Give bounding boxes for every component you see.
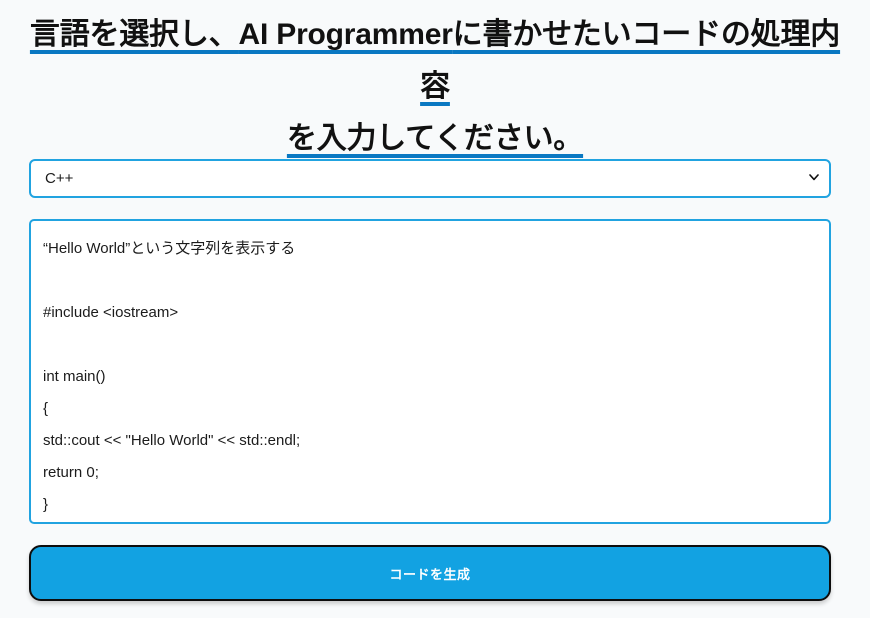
language-select[interactable]: C++ <box>29 159 831 198</box>
page-root: 言語を選択し、AI Programmerに書かせたいコードの処理内容 を入力して… <box>0 0 870 618</box>
page-title-line2: を入力してください。 <box>287 122 583 155</box>
page-title-line1: 言語を選択し、AI Programmerに書かせたいコードの処理内容 <box>30 18 840 103</box>
page-title-line1-part3: に書かせたいコードの処理内容 <box>420 18 840 103</box>
page-title: 言語を選択し、AI Programmerに書かせたいコードの処理内容 を入力して… <box>29 0 841 165</box>
page-title-line1-part2: AI Programmer <box>239 18 453 51</box>
page-title-line1-part1: 言語を選択し、 <box>30 18 239 51</box>
prompt-textarea[interactable] <box>29 219 831 524</box>
generate-code-button[interactable]: コードを生成 <box>29 545 831 601</box>
language-select-wrapper: C++ <box>29 159 831 198</box>
